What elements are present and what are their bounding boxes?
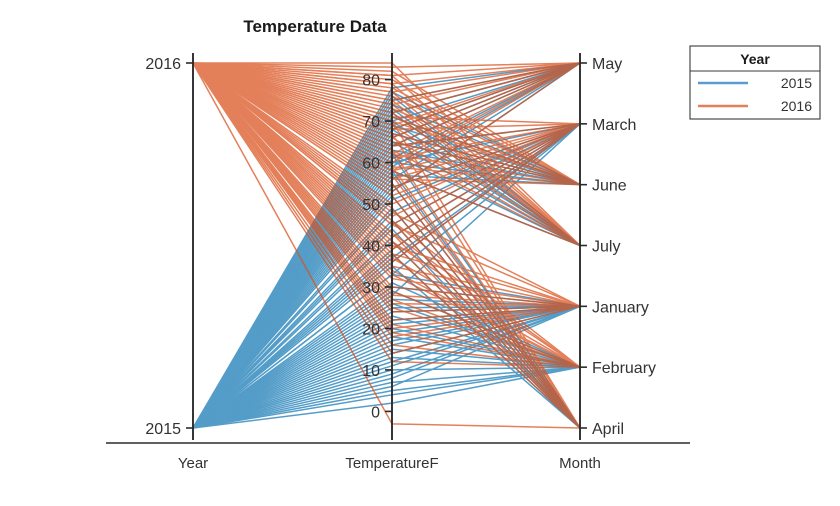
tick-label: 80 [362, 73, 380, 90]
legend-title: Year [740, 51, 770, 67]
tick-label: May [592, 56, 622, 73]
axis-name-Month: Month [559, 455, 601, 472]
tick-label: 2015 [145, 421, 181, 438]
tick-label: 2016 [145, 56, 181, 73]
tick-label: 0 [371, 404, 380, 421]
tick-label: 70 [362, 114, 380, 131]
chart-legend[interactable]: Year20152016 [690, 46, 820, 119]
legend-label: 2016 [781, 98, 812, 114]
tick-label: June [592, 178, 627, 195]
tick-label: 60 [362, 156, 380, 173]
tick-label: February [592, 360, 656, 377]
tick-label: 10 [362, 363, 380, 380]
page-title: Temperature Data [243, 17, 387, 36]
axis-Year[interactable]: 20162015Year [145, 53, 208, 472]
tick-label: 50 [362, 197, 380, 214]
tick-label: March [592, 117, 636, 134]
legend-label: 2015 [781, 75, 812, 91]
tick-label: July [592, 239, 620, 256]
tick-label: January [592, 299, 649, 316]
tick-label: 40 [362, 239, 380, 256]
parallel-coordinates-chart: Temperature Data 20162015Year80706050403… [0, 0, 840, 506]
tick-label: April [592, 421, 624, 438]
tick-label: 20 [362, 321, 380, 338]
axis-name-Year: Year [178, 455, 208, 472]
axis-name-TemperatureF: TemperatureF [345, 455, 438, 472]
tick-label: 30 [362, 280, 380, 297]
axis-Month[interactable]: MayMarchJuneJulyJanuaryFebruaryAprilMont… [559, 53, 656, 472]
